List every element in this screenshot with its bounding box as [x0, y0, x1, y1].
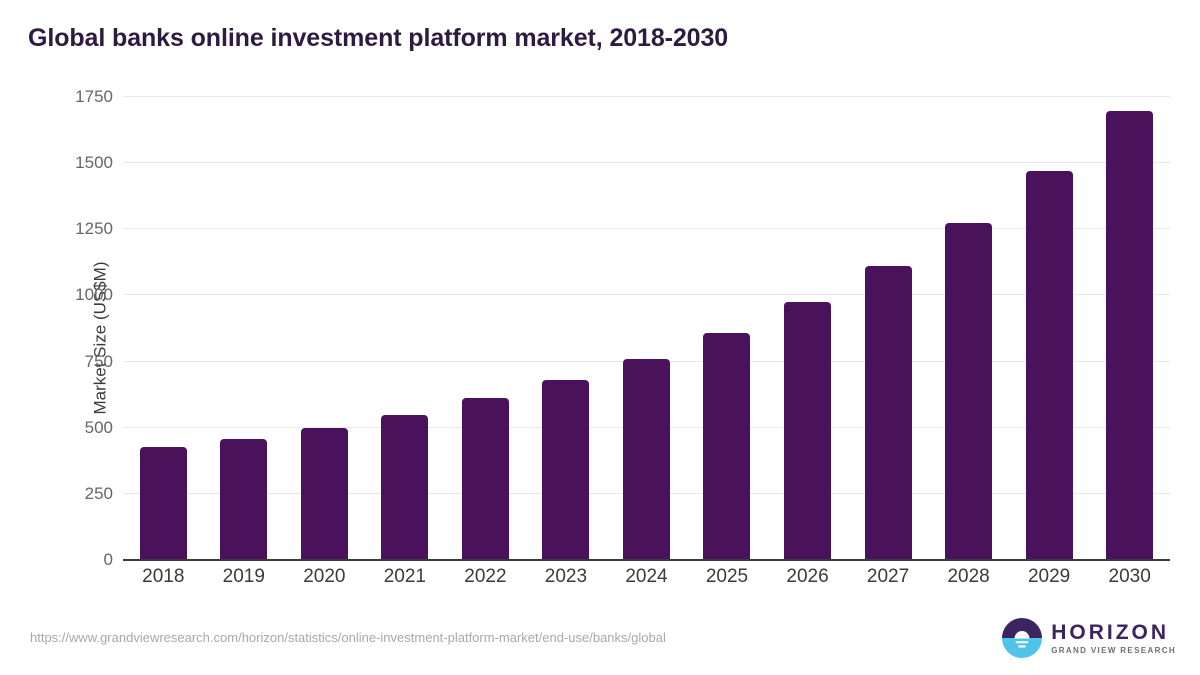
bar[interactable] [1026, 171, 1073, 560]
bar-slot [123, 97, 204, 560]
bar[interactable] [1106, 111, 1153, 560]
brand-logo: HORIZON GRAND VIEW RESEARCH [1002, 616, 1176, 660]
source-url[interactable]: https://www.grandviewresearch.com/horizo… [30, 630, 666, 645]
bar[interactable] [140, 447, 187, 560]
y-axis-title: Market Size (US$M) [91, 261, 111, 414]
bar-slot [204, 97, 285, 560]
y-tick-label: 0 [104, 550, 113, 570]
horizon-sun-icon [1002, 618, 1042, 658]
logo-wordmark: HORIZON GRAND VIEW RESEARCH [1051, 622, 1176, 655]
y-tick-label: 1000 [75, 285, 113, 305]
page-title: Global banks online investment platform … [28, 24, 728, 53]
bar-slot [1089, 97, 1170, 560]
y-tick-label: 1500 [75, 153, 113, 173]
x-tick-label: 2030 [1089, 566, 1170, 588]
x-tick-label: 2029 [1009, 566, 1090, 588]
x-axis-line [123, 559, 1170, 561]
y-tick-label: 1250 [75, 219, 113, 239]
plot-area: 02505007501000125015001750 [123, 97, 1170, 560]
bar[interactable] [462, 398, 509, 560]
bar[interactable] [703, 333, 750, 560]
y-tick-label: 250 [85, 484, 113, 504]
x-tick-label: 2026 [767, 566, 848, 588]
bar-slot [284, 97, 365, 560]
bar-slot [606, 97, 687, 560]
x-tick-label: 2021 [365, 566, 446, 588]
bar[interactable] [865, 266, 912, 560]
x-tick-label: 2018 [123, 566, 204, 588]
x-tick-label: 2023 [526, 566, 607, 588]
bar-slot [928, 97, 1009, 560]
bar[interactable] [220, 439, 267, 560]
bar-slot [1009, 97, 1090, 560]
bar-slot [445, 97, 526, 560]
bar-slot [365, 97, 446, 560]
chart-page: Global banks online investment platform … [0, 0, 1200, 675]
y-tick-label: 500 [85, 418, 113, 438]
x-tick-label: 2028 [928, 566, 1009, 588]
bar-slot [526, 97, 607, 560]
bar[interactable] [784, 302, 831, 560]
x-tick-label: 2024 [606, 566, 687, 588]
logo-subtitle: GRAND VIEW RESEARCH [1051, 647, 1176, 655]
bar[interactable] [945, 223, 992, 560]
bar[interactable] [381, 415, 428, 561]
bar-slot [767, 97, 848, 560]
x-tick-label: 2027 [848, 566, 929, 588]
bar[interactable] [301, 428, 348, 560]
y-tick-label: 1750 [75, 87, 113, 107]
bar-series [123, 97, 1170, 560]
bar[interactable] [542, 380, 589, 560]
bar-slot [687, 97, 768, 560]
x-tick-label: 2019 [204, 566, 285, 588]
x-axis-ticks: 2018201920202021202220232024202520262027… [123, 566, 1170, 588]
logo-word: HORIZON [1051, 622, 1176, 643]
x-tick-label: 2020 [284, 566, 365, 588]
bar-slot [848, 97, 929, 560]
y-tick-label: 750 [85, 352, 113, 372]
x-tick-label: 2025 [687, 566, 768, 588]
x-tick-label: 2022 [445, 566, 526, 588]
bar[interactable] [623, 359, 670, 560]
